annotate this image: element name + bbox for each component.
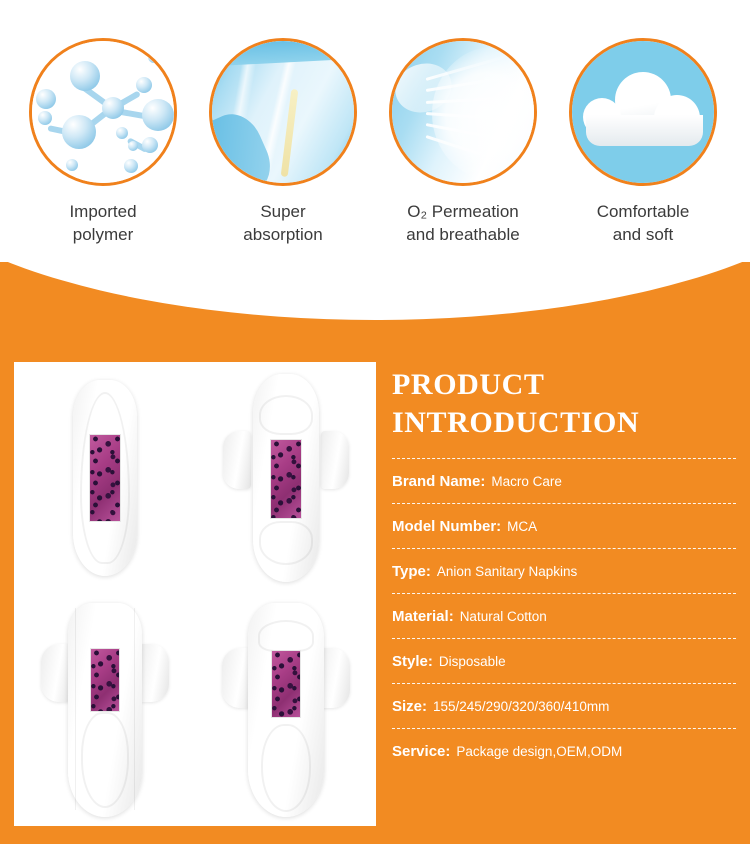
spec-value: Natural Cotton xyxy=(460,609,547,624)
feature-label: Comfortable and soft xyxy=(554,200,732,246)
spec-row-brand-name: Brand Name: Macro Care xyxy=(392,458,736,503)
feature-item-comfortable-soft: Comfortable and soft xyxy=(554,38,732,246)
product-image-winged-napkin-crown-emboss xyxy=(195,362,376,594)
spec-label: Style: xyxy=(392,653,433,670)
spec-label: Material: xyxy=(392,608,454,625)
cloud-icon xyxy=(569,38,717,186)
spec-row-type: Type: Anion Sanitary Napkins xyxy=(392,548,736,593)
molecule-icon xyxy=(29,38,177,186)
spec-label: Size: xyxy=(392,698,427,715)
product-image-panty-liner-front xyxy=(14,362,195,594)
feature-strip: Imported polymer Super absorption O₂ Per… xyxy=(0,0,750,262)
spec-row-material: Material: Natural Cotton xyxy=(392,593,736,638)
feature-item-o2-permeation: O₂ Permeation and breathable xyxy=(374,38,552,246)
spec-row-size: Size: 155/245/290/320/360/410mm xyxy=(392,683,736,728)
spec-label: Model Number: xyxy=(392,518,501,535)
spec-value: Anion Sanitary Napkins xyxy=(437,564,577,579)
air-permeation-icon xyxy=(389,38,537,186)
spec-value: Disposable xyxy=(439,654,506,669)
product-image-winged-napkin-lotus-emboss xyxy=(195,594,376,826)
page-title: PRODUCT INTRODUCTION xyxy=(392,366,736,442)
product-gallery xyxy=(14,362,376,826)
spec-row-service: Service: Package design,OEM,ODM xyxy=(392,728,736,760)
spec-label: Service: xyxy=(392,743,450,760)
spec-value: Package design,OEM,ODM xyxy=(456,744,622,759)
feature-label: O₂ Permeation and breathable xyxy=(374,200,552,246)
feature-item-imported-polymer: Imported polymer xyxy=(14,38,192,246)
feature-item-super-absorption: Super absorption xyxy=(194,38,372,246)
spec-label: Type: xyxy=(392,563,431,580)
spec-value: Macro Care xyxy=(491,474,562,489)
product-image-winged-napkin-long xyxy=(14,594,195,826)
spec-row-model-number: Model Number: MCA xyxy=(392,503,736,548)
spec-value: 155/245/290/320/360/410mm xyxy=(433,699,609,714)
spec-label: Brand Name: xyxy=(392,473,485,490)
feature-label: Imported polymer xyxy=(14,200,192,246)
spec-row-style: Style: Disposable xyxy=(392,638,736,683)
fabric-layer-icon xyxy=(209,38,357,186)
spec-value: MCA xyxy=(507,519,537,534)
feature-label: Super absorption xyxy=(194,200,372,246)
product-introduction-panel: PRODUCT INTRODUCTION Brand Name: Macro C… xyxy=(392,366,736,760)
